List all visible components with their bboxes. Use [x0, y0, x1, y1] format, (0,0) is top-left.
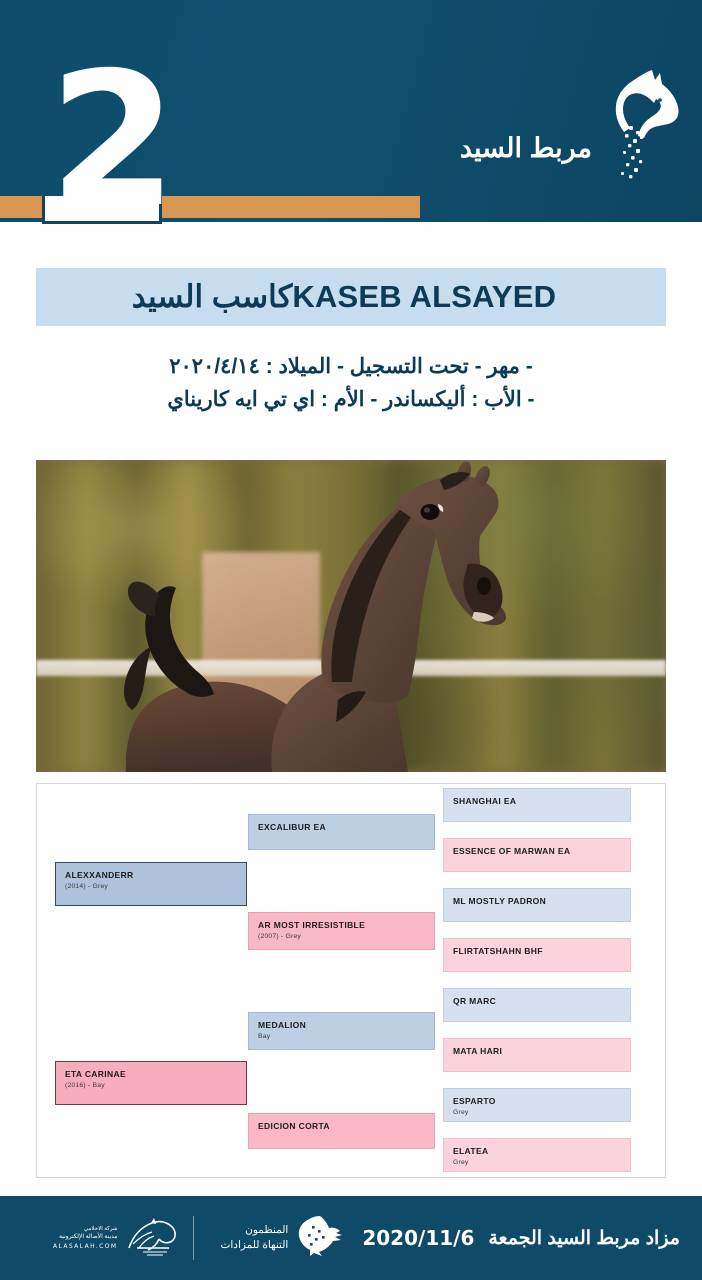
auction-title: مزاد مربط السيد الجمعة: [488, 1227, 680, 1250]
auction-date: 2020/11/6: [362, 1226, 474, 1250]
horse-name-band: كاسب السيد KASEB ALSAYED: [36, 268, 666, 326]
pedigree-sub: (2014) - Grey: [65, 882, 237, 892]
pedigree-name: MATA HARI: [453, 1046, 621, 1057]
pedigree-box-g3-8[interactable]: ELATEA Grey: [443, 1138, 631, 1172]
pedigree-name: ETA CARINAE: [65, 1069, 237, 1080]
arabian-horse-head-icon: [592, 64, 684, 182]
pedigree-box-g3-1[interactable]: SHANGHAI EA: [443, 788, 631, 822]
pedigree-name: QR MARC: [453, 996, 621, 1007]
page-header: مربط السيد: [0, 0, 702, 222]
brand-logo: مربط السيد: [434, 62, 684, 182]
pedigree-name: FLIRTATSHAHN BHF: [453, 946, 621, 957]
sponsor-line-3: ALASALAH.COM: [53, 1242, 118, 1251]
horse-name-ar: كاسب السيد: [132, 279, 293, 315]
pedigree-name: ESPARTO: [453, 1096, 621, 1107]
lot-number: 2: [46, 56, 176, 226]
pedigree-name: EDICION CORTA: [258, 1121, 425, 1132]
pedigree-box-g2-4[interactable]: EDICION CORTA: [248, 1113, 435, 1149]
pedigree-box-g3-6[interactable]: MATA HARI: [443, 1038, 631, 1072]
pedigree-box-sire-g1[interactable]: ALEXXANDERR (2014) - Grey: [55, 862, 247, 906]
pedigree-box-g3-4[interactable]: FLIRTATSHAHN BHF: [443, 938, 631, 972]
pedigree-sub: Bay: [258, 1032, 425, 1042]
pedigree-box-g3-5[interactable]: QR MARC: [443, 988, 631, 1022]
sponsor-logo: شركة الاحلامي مدينة الأصالة الإلكترونية …: [53, 1214, 180, 1263]
horse-photo: [36, 460, 666, 772]
pedigree-name: EXCALIBUR EA: [258, 822, 425, 833]
pedigree-box-g3-3[interactable]: ML MOSTLY PADRON: [443, 888, 631, 922]
detail-line-parents: - الأب : أليكساندر - الأم : اي تي ايه كا…: [36, 383, 666, 416]
pedigree-sub: Grey: [453, 1158, 621, 1168]
organizer-text: المنظمون التنهاة للمزادات: [220, 1223, 288, 1253]
pedigree-name: ALEXXANDERR: [65, 870, 237, 881]
organizer-label-bottom: التنهاة للمزادات: [220, 1238, 288, 1253]
alasalah-horse-calligraphy-icon: [123, 1214, 179, 1263]
organizer-label-top: المنظمون: [220, 1223, 288, 1238]
footer-divider: [193, 1216, 194, 1260]
horse-name-en: KASEB ALSAYED: [292, 279, 556, 315]
horse-details: - مهر - تحت التسجيل - الميلاد : ٢٠٢٠/٤/١…: [36, 350, 666, 416]
pedigree-box-g3-2[interactable]: ESSENCE OF MARWAN EA: [443, 838, 631, 872]
pedigree-sub: Grey: [453, 1108, 621, 1118]
sponsor-line-2: مدينة الأصالة الإلكترونية: [53, 1233, 118, 1242]
pedigree-name: AR MOST IRRESISTIBLE: [258, 920, 425, 931]
sponsor-text: شركة الاحلامي مدينة الأصالة الإلكترونية …: [53, 1225, 118, 1251]
pedigree-chart: ALEXXANDERR (2014) - Grey ETA CARINAE (2…: [36, 783, 666, 1178]
pedigree-name: ESSENCE OF MARWAN EA: [453, 846, 621, 857]
pedigree-box-g2-3[interactable]: MEDALION Bay: [248, 1012, 435, 1050]
pedigree-name: MEDALION: [258, 1020, 425, 1031]
pedigree-name: ML MOSTLY PADRON: [453, 896, 621, 907]
detail-line-birth: - مهر - تحت التسجيل - الميلاد : ٢٠٢٠/٤/١…: [36, 350, 666, 383]
page-footer: مزاد مربط السيد الجمعة 2020/11/6 المنظمو…: [0, 1196, 702, 1280]
pedigree-name: ELATEA: [453, 1146, 621, 1157]
pedigree-box-dam-g1[interactable]: ETA CARINAE (2016) - Bay: [55, 1061, 247, 1105]
pedigree-sub: (2016) - Bay: [65, 1081, 237, 1091]
pedigree-name: SHANGHAI EA: [453, 796, 621, 807]
brand-name: مربط السيد: [454, 133, 592, 182]
organizer-logo: المنظمون التنهاة للمزادات: [220, 1214, 346, 1263]
pedigree-box-g2-1[interactable]: EXCALIBUR EA: [248, 814, 435, 850]
sponsor-line-1: شركة الاحلامي: [53, 1225, 118, 1233]
foal-silhouette: [36, 460, 666, 772]
running-horse-icon: [292, 1214, 346, 1263]
pedigree-box-g3-7[interactable]: ESPARTO Grey: [443, 1088, 631, 1122]
pedigree-box-g2-2[interactable]: AR MOST IRRESISTIBLE (2007) - Grey: [248, 912, 435, 950]
pedigree-sub: (2007) - Grey: [258, 932, 425, 942]
